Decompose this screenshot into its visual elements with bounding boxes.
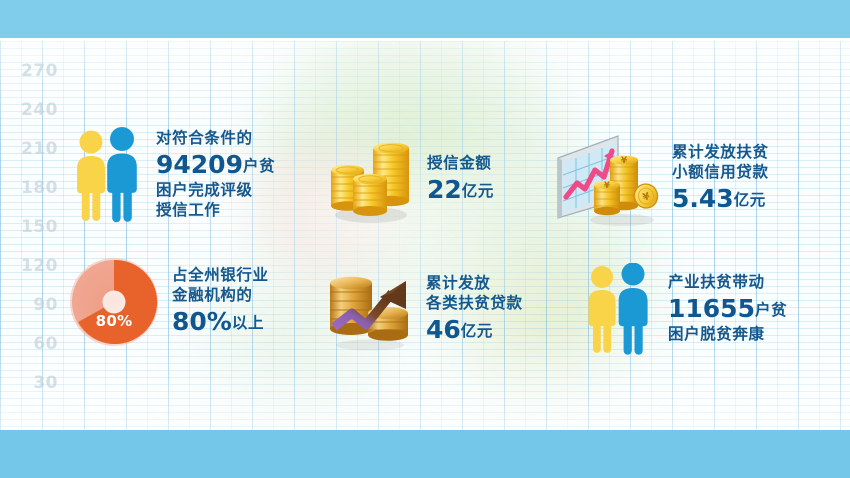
- stat-value-suffix: 户贫: [243, 157, 275, 175]
- stat-value-suffix: 亿元: [734, 191, 766, 209]
- coins-arrow-icon: [322, 269, 418, 351]
- donut-chart: 80%: [68, 256, 160, 348]
- stat-item-industry-poverty-relief: 产业扶贫带动 11655户贫 困户脱贫奔康: [580, 263, 787, 355]
- stat-value: 80%: [172, 307, 232, 336]
- stat-item-text-4: 占全州银行业 金融机构的 80%以上: [172, 266, 269, 338]
- stat-value-suffix: 亿元: [462, 182, 494, 200]
- coin-stacks-icon: [325, 135, 417, 225]
- donut-chart-icon: 80%: [68, 256, 160, 348]
- infographic-poster: 270 240 210 180 150 120 90 60 30: [0, 0, 850, 478]
- stat-line-highlight: 5.43亿元: [672, 183, 769, 215]
- donut-percent-label: 80%: [68, 312, 160, 330]
- stat-line: 困户完成评级: [156, 181, 275, 201]
- stat-item-text-2: 授信金额 22亿元: [427, 154, 494, 206]
- two-people-icon: [70, 127, 144, 223]
- stat-item-text-1: 对符合条件的 94209户贫 困户完成评级 授信工作: [156, 129, 275, 220]
- stat-item-text-5: 累计发放 各类扶贫贷款 46亿元: [426, 274, 523, 346]
- stat-line-highlight: 22亿元: [427, 174, 494, 206]
- statistic-items-grid: 对符合条件的 94209户贫 困户完成评级 授信工作: [0, 41, 850, 430]
- stat-line-highlight: 46亿元: [426, 314, 523, 346]
- stat-line: 授信金额: [427, 154, 494, 174]
- stat-line: 授信工作: [156, 201, 275, 221]
- stat-value: 46: [426, 315, 461, 344]
- svg-text:¥: ¥: [621, 156, 628, 166]
- stat-line: 占全州银行业: [172, 266, 269, 286]
- growth-chart-coins-icon: ¥ ¥: [550, 130, 662, 228]
- stat-line: 累计发放扶贫: [672, 143, 769, 163]
- stat-line: 累计发放: [426, 274, 523, 294]
- stat-value: 11655: [668, 294, 755, 323]
- stat-line: 对符合条件的: [156, 129, 275, 149]
- stat-line: 困户脱贫奔康: [668, 325, 787, 345]
- stat-item-text-3: 累计发放扶贫 小额信用贷款 5.43亿元: [672, 143, 769, 215]
- stat-item-text-6: 产业扶贫带动 11655户贫 困户脱贫奔康: [668, 273, 787, 345]
- stat-value: 94209: [156, 150, 243, 179]
- stat-line-highlight: 11655户贫: [668, 293, 787, 325]
- stat-line: 产业扶贫带动: [668, 273, 787, 293]
- stat-line-highlight: 80%以上: [172, 306, 269, 338]
- infographic-canvas: 270 240 210 180 150 120 90 60 30: [0, 41, 850, 430]
- stat-item-credit-rating-households: 对符合条件的 94209户贫 困户完成评级 授信工作: [70, 127, 275, 223]
- stat-value: 22: [427, 175, 462, 204]
- header-bar: [0, 0, 850, 38]
- stat-line: 金融机构的: [172, 286, 269, 306]
- stat-item-microcredit-loans: ¥ ¥: [550, 130, 769, 228]
- two-people-icon: [580, 263, 656, 355]
- footer-bar: [0, 430, 850, 478]
- stat-value-suffix: 亿元: [461, 322, 493, 340]
- stat-item-poverty-loans-total: 累计发放 各类扶贫贷款 46亿元: [322, 269, 523, 351]
- stat-value-suffix: 以上: [232, 314, 264, 332]
- stat-item-bank-share: 80% 占全州银行业 金融机构的 80%以上: [68, 256, 269, 348]
- stat-value: 5.43: [672, 184, 734, 213]
- svg-text:¥: ¥: [604, 181, 610, 191]
- stat-line-highlight: 94209户贫: [156, 149, 275, 181]
- stat-item-credit-amount: 授信金额 22亿元: [325, 135, 494, 225]
- stat-value-suffix: 户贫: [755, 301, 787, 319]
- stat-line: 各类扶贫贷款: [426, 294, 523, 314]
- stat-line: 小额信用贷款: [672, 163, 769, 183]
- donut-glow: [64, 252, 164, 352]
